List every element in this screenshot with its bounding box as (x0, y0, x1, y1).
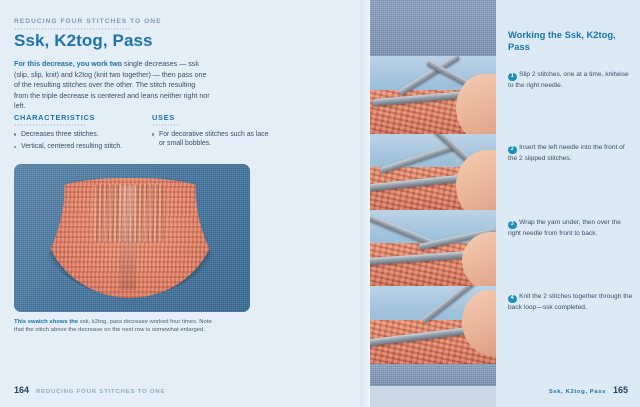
left-page: REDUCING FOUR STITCHES TO ONE Ssk, K2tog… (0, 0, 368, 407)
step-1: 1Slip 2 stitches, one at a time, knitwis… (508, 70, 634, 91)
uses-dotted-rule (152, 124, 180, 126)
right-page-title: Working the Ssk, K2tog, Pass (508, 29, 632, 53)
characteristics-dotted-rule (14, 124, 86, 126)
uses-list: For decorative stitches such as lace or … (152, 130, 272, 149)
running-head-left: REDUCING FOUR STITCHES TO ONE (36, 389, 165, 395)
knitted-swatch-photo (14, 164, 250, 312)
step-number-badge: 3 (508, 221, 517, 230)
intro-paragraph: For this decrease, you work two single d… (14, 59, 210, 112)
step-4: 4Knit the 2 stitches together through th… (508, 292, 634, 313)
step-photo-3 (368, 210, 496, 286)
list-item: Vertical, centered resulting stitch. (14, 142, 124, 151)
kicker-dotted-rule (14, 28, 131, 30)
page-number-left: 164 (14, 385, 29, 395)
swatch-center-column (120, 186, 136, 290)
characteristics-list: Decreases three stitches. Vertical, cent… (14, 130, 124, 152)
page-title: Ssk, K2tog, Pass (14, 31, 344, 51)
section-kicker: REDUCING FOUR STITCHES TO ONE (14, 18, 314, 25)
list-item: Decreases three stitches. (14, 130, 124, 139)
hand (462, 232, 496, 286)
step-text: Slip 2 stitches, one at a time, knitwise… (508, 71, 629, 89)
step-number-badge: 4 (508, 295, 517, 304)
right-footer: Ssk, K2tog, Pass 165 (549, 385, 628, 395)
page-gutter (360, 0, 370, 407)
right-page (496, 0, 640, 407)
step-text: Knit the 2 stitches together through the… (508, 293, 632, 311)
step-photo-column (368, 0, 496, 407)
swatch-fabric (42, 178, 218, 298)
intro-lead-text: For this decrease, you work two (14, 60, 122, 68)
uses-heading: USES (152, 113, 272, 122)
characteristics-heading: CHARACTERISTICS (14, 113, 124, 122)
book-spread: REDUCING FOUR STITCHES TO ONE Ssk, K2tog… (0, 0, 640, 407)
left-footer: 164 REDUCING FOUR STITCHES TO ONE (14, 385, 165, 395)
caption-lead-text: This swatch shows the (14, 319, 78, 325)
step-number-badge: 1 (508, 73, 517, 82)
page-number-right: 165 (613, 385, 628, 395)
step-number-badge: 2 (508, 146, 517, 155)
list-item: For decorative stitches such as lace or … (152, 130, 272, 149)
step-photo-1 (368, 56, 496, 134)
step-text: Wrap the yarn under, then over the right… (508, 219, 621, 237)
step-photo-4 (368, 286, 496, 364)
step-2: 2Insert the left needle into the front o… (508, 143, 634, 164)
swatch-caption: This swatch shows the ssk, k2tog, pass d… (14, 318, 222, 335)
step-text: Insert the left needle into the front of… (508, 144, 625, 162)
step-3: 3Wrap the yarn under, then over the righ… (508, 218, 634, 239)
denim-band-bottom (368, 364, 496, 386)
denim-band-top (368, 0, 496, 56)
uses-column: USES For decorative stitches such as lac… (152, 113, 272, 152)
running-head-right: Ssk, K2tog, Pass (549, 389, 606, 395)
characteristics-column: CHARACTERISTICS Decreases three stitches… (14, 113, 124, 155)
step-photo-2 (368, 134, 496, 210)
